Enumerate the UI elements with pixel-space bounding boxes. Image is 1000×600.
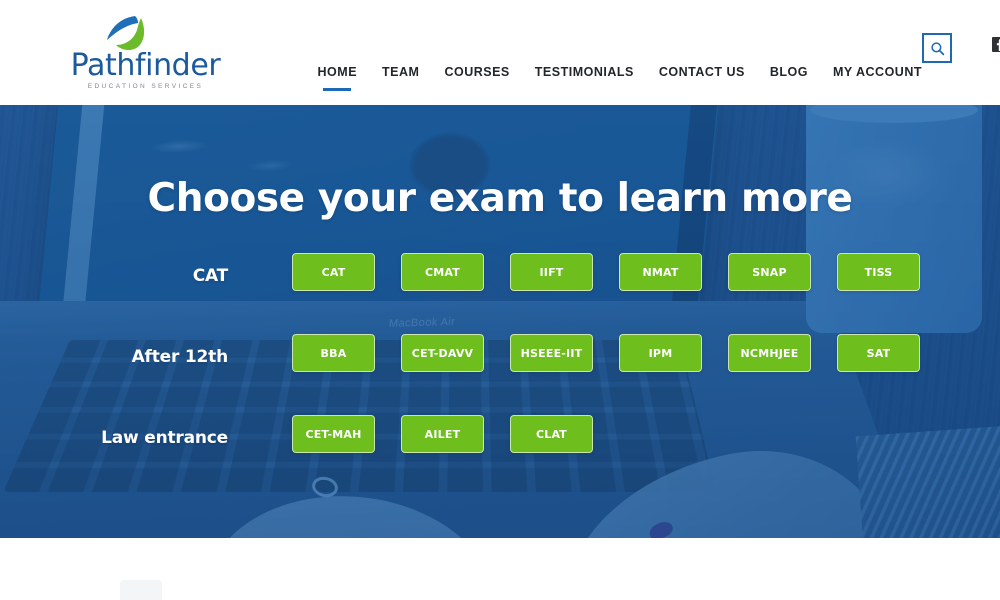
search-icon: [930, 41, 945, 56]
hero-content: Choose your exam to learn more CAT CAT C…: [0, 105, 1000, 538]
nav-item-blog[interactable]: BLOG: [770, 65, 808, 91]
exam-button-ipm[interactable]: IPM: [619, 334, 702, 372]
pathfinder-leaf-icon: [105, 14, 151, 52]
nav-item-testimonials[interactable]: TESTIMONIALS: [535, 65, 634, 91]
hero-title: Choose your exam to learn more: [0, 175, 1000, 223]
exam-row-buttons-cat: CAT CMAT IIFT NMAT SNAP TISS: [292, 253, 920, 291]
exam-button-nmat[interactable]: NMAT: [619, 253, 702, 291]
exam-button-bba[interactable]: BBA: [292, 334, 375, 372]
exam-button-cat[interactable]: CAT: [292, 253, 375, 291]
facebook-link[interactable]: [992, 37, 1000, 52]
exam-row-buttons-after-12th: BBA CET-DAVV HSEEE-IIT IPM NCMHJEE SAT: [292, 334, 920, 372]
facebook-icon: [992, 37, 1000, 52]
exam-button-sat[interactable]: SAT: [837, 334, 920, 372]
site-header: Pathfinder EDUCATION SERVICES: [0, 0, 1000, 105]
exam-row-cat: CAT CAT CMAT IIFT NMAT SNAP TISS: [0, 253, 1000, 334]
exam-button-ncmhjee[interactable]: NCMHJEE: [728, 334, 811, 372]
exam-row-label-cat: CAT: [0, 266, 240, 286]
exam-row-after-12th: After 12th BBA CET-DAVV HSEEE-IIT IPM NC…: [0, 334, 1000, 415]
exam-button-ailet[interactable]: AILET: [401, 415, 484, 453]
nav-item-contact-us[interactable]: CONTACT US: [659, 65, 745, 91]
nav-item-home[interactable]: HOME: [318, 65, 358, 91]
exam-row-law-entrance: Law entrance CET-MAH AILET CLAT: [0, 415, 1000, 496]
hero-section: MacBook Air Choose your exam to learn mo…: [0, 105, 1000, 538]
search-button[interactable]: [922, 33, 952, 63]
exam-button-iift[interactable]: IIFT: [510, 253, 593, 291]
exam-row-label-law-entrance: Law entrance: [0, 428, 240, 448]
main-navigation: HOME TEAM COURSES TESTIMONIALS CONTACT U…: [0, 65, 1000, 105]
exam-button-hseee-iit[interactable]: HSEEE-IIT: [510, 334, 593, 372]
social-links: [992, 37, 1000, 52]
exam-row-label-after-12th: After 12th: [0, 347, 240, 367]
exam-button-cet-mah[interactable]: CET-MAH: [292, 415, 375, 453]
exam-button-tiss[interactable]: TISS: [837, 253, 920, 291]
nav-item-courses[interactable]: COURSES: [444, 65, 509, 91]
exam-button-cet-davv[interactable]: CET-DAVV: [401, 334, 484, 372]
nav-item-my-account[interactable]: MY ACCOUNT: [833, 65, 922, 91]
nav-list: HOME TEAM COURSES TESTIMONIALS CONTACT U…: [318, 65, 922, 91]
exam-button-clat[interactable]: CLAT: [510, 415, 593, 453]
exam-selector: CAT CAT CMAT IIFT NMAT SNAP TISS After 1…: [0, 253, 1000, 496]
exam-row-buttons-law-entrance: CET-MAH AILET CLAT: [292, 415, 593, 453]
content-card-peek: [120, 580, 162, 600]
below-hero-section: [0, 538, 1000, 600]
page-root: Pathfinder EDUCATION SERVICES: [0, 0, 1000, 600]
nav-item-team[interactable]: TEAM: [382, 65, 419, 91]
exam-button-cmat[interactable]: CMAT: [401, 253, 484, 291]
exam-button-snap[interactable]: SNAP: [728, 253, 811, 291]
